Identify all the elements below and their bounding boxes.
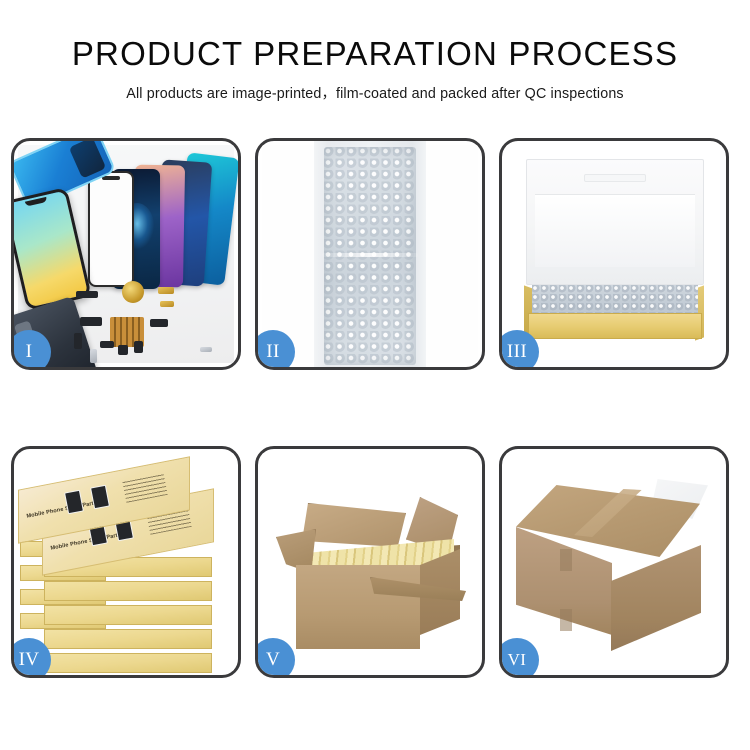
- page-subtitle: All products are image-printed，film-coat…: [0, 82, 750, 103]
- part-flex-2: [74, 333, 82, 349]
- step-panel-5[interactable]: V: [255, 446, 485, 678]
- phone-parts-image: [14, 141, 238, 367]
- stacked-box-front-2: [44, 581, 212, 601]
- part-flex-1: [80, 317, 102, 326]
- part-gold-1: [158, 287, 174, 294]
- step-panel-4[interactable]: Mobile Phone Spare Parts Mobile Phone Sp…: [11, 446, 241, 678]
- page-header: PRODUCT PREPARATION PROCESS All products…: [0, 36, 750, 103]
- inner-box-image: [502, 141, 726, 367]
- bubble-wrap-seam: [322, 253, 418, 257]
- step-panel-3[interactable]: III: [499, 138, 729, 370]
- stacked-box-front-3: [44, 605, 212, 625]
- part-camera: [118, 345, 128, 355]
- boxes-stack-image: Mobile Phone Spare Parts Mobile Phone Sp…: [14, 449, 238, 675]
- white-box-lid: [526, 159, 704, 285]
- carton-seam-lower: [560, 609, 572, 631]
- phone-white-front: [88, 171, 134, 287]
- sealed-carton-image: [502, 449, 726, 675]
- carton-seam-upper: [560, 549, 572, 571]
- part-flex-3: [100, 341, 114, 348]
- part-speaker: [134, 341, 143, 353]
- bubble-wrapped-contents: [532, 285, 698, 313]
- process-steps-grid: I II III: [11, 138, 739, 678]
- lid-tab: [584, 174, 646, 182]
- step-badge-6: VI: [499, 638, 539, 678]
- step-badge-5: V: [255, 638, 295, 678]
- product-preparation-page: PRODUCT PREPARATION PROCESS All products…: [0, 0, 750, 750]
- carton-filling-image: [258, 449, 482, 675]
- part-gold-2: [160, 301, 174, 307]
- gold-component: [122, 281, 144, 303]
- carton-front-face: [296, 565, 420, 649]
- part-strip-1: [76, 291, 98, 298]
- step-badge-3: III: [499, 330, 539, 370]
- page-title: PRODUCT PREPARATION PROCESS: [0, 36, 750, 73]
- step-badge-4: IV: [11, 638, 51, 678]
- step-panel-6[interactable]: VI: [499, 446, 729, 678]
- stacked-box-front-4: [44, 629, 212, 649]
- bubble-wrap-image: [258, 141, 482, 367]
- step-badge-1: I: [11, 330, 51, 370]
- step-badge-2: II: [255, 330, 295, 370]
- stacked-box-front-5: [44, 653, 212, 673]
- part-screw-set: [200, 347, 212, 352]
- part-flex-4: [150, 319, 168, 327]
- step-panel-1[interactable]: I: [11, 138, 241, 370]
- step-panel-2[interactable]: II: [255, 138, 485, 370]
- part-silver-1: [90, 349, 97, 363]
- kraft-box-front: [528, 313, 702, 339]
